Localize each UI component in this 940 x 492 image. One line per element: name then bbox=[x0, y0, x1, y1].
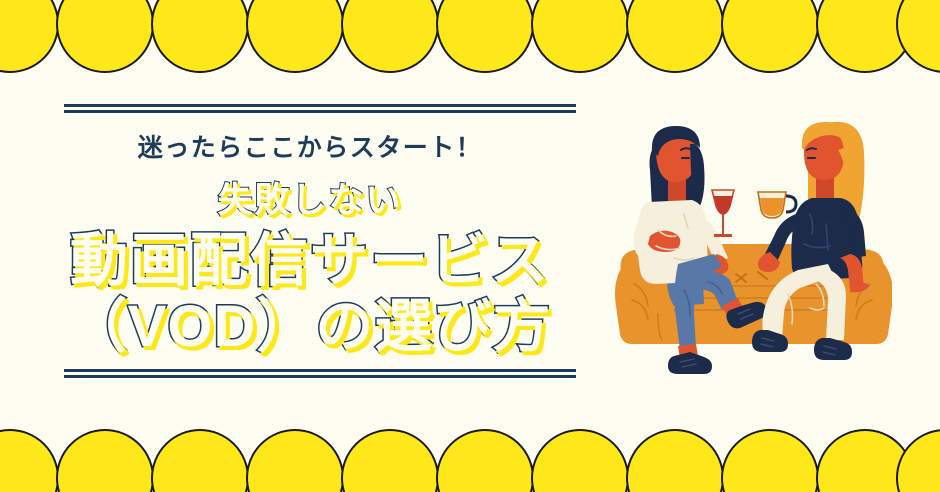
headline-line-1: 動画配信サービス bbox=[0, 228, 620, 294]
page-title: 動画配信サービス （VOD）の選び方 bbox=[0, 228, 620, 360]
subhead-text: 失敗しない bbox=[0, 172, 620, 223]
rule-line bbox=[64, 375, 576, 378]
kicker-text: 迷ったらここからスタート！ bbox=[0, 128, 620, 164]
vod-guide-banner: 迷ったらここからスタート！ 失敗しない 動画配信サービス （VOD）の選び方 bbox=[0, 0, 940, 492]
rule-line bbox=[64, 369, 576, 372]
coffee-cup bbox=[758, 192, 796, 218]
double-rule-upper bbox=[64, 104, 576, 113]
wine-glass bbox=[712, 190, 734, 237]
rule-line bbox=[64, 110, 576, 113]
headline-line-2: （VOD）の選び方 bbox=[0, 294, 620, 360]
headline-text-block: 迷ったらここからスタート！ 失敗しない 動画配信サービス （VOD）の選び方 bbox=[0, 0, 620, 492]
sofa-illustration bbox=[612, 118, 892, 380]
double-rule-lower bbox=[64, 369, 576, 378]
rule-line bbox=[64, 104, 576, 107]
